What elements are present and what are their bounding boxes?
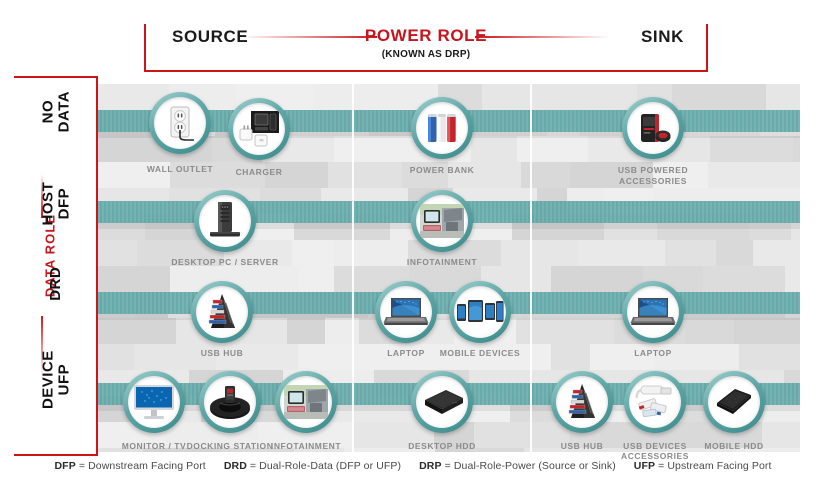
header-power-role-sublabel: (KNOWN AS DRP)	[144, 49, 708, 60]
column-divider-power-sink	[530, 84, 532, 452]
grid-tile	[716, 240, 753, 266]
grid-tile	[98, 318, 176, 344]
row-label-0: NODATA	[40, 70, 71, 154]
node-wall-outlet[interactable]	[149, 92, 211, 154]
node-infotainment-host[interactable]	[411, 190, 473, 252]
power-bank-icon	[416, 102, 468, 154]
row-label-1: HOSTDFP	[40, 162, 71, 246]
node-caption: MOBILE HDD	[674, 441, 794, 452]
legend-item: DRP = Dual-Role-Power (Source or Sink)	[419, 460, 616, 472]
legend-item: UFP = Upstream Facing Port	[634, 460, 772, 472]
grid-tile	[703, 266, 785, 292]
node-infotainment-dev[interactable]	[275, 371, 337, 433]
grid-tile	[665, 240, 716, 266]
node-caption: USB POWERED ACCESSORIES	[593, 165, 713, 186]
grid-tile	[521, 162, 570, 188]
desktop-tower-icon	[199, 195, 251, 247]
row-label-line2: DFP	[56, 162, 72, 246]
node-caption: MOBILE DEVICES	[420, 348, 540, 359]
node-desktop-hdd[interactable]	[411, 371, 473, 433]
grid-tile	[501, 240, 578, 266]
node-docking-station[interactable]	[199, 371, 261, 433]
grid-tile	[517, 136, 588, 162]
desktop-hdd-icon	[416, 376, 468, 428]
grid-tile	[672, 84, 766, 110]
infotainment-icon	[416, 195, 468, 247]
node-desktop-pc[interactable]	[194, 190, 256, 252]
usb-hub-icon	[196, 286, 248, 338]
power-role-header: SOURCE POWER ROLE SINK (KNOWN AS DRP)	[144, 24, 708, 72]
node-caption: INFOTAINMENT	[382, 257, 502, 268]
row-label-line1: DEVICE	[40, 338, 56, 422]
node-laptop-sink[interactable]	[622, 281, 684, 343]
header-rule-left	[242, 36, 377, 38]
usb-devices-accessories-icon	[629, 376, 681, 428]
node-caption: LAPTOP	[593, 348, 713, 359]
charger-icon	[233, 103, 285, 155]
node-usb-hub-drd[interactable]	[191, 281, 253, 343]
grid-tile	[313, 84, 403, 110]
header-power-role-label: POWER ROLE	[144, 26, 708, 46]
node-caption: CHARGER	[199, 167, 319, 178]
column-divider-source-power	[352, 84, 354, 452]
row-label-line1: HOST	[40, 162, 56, 246]
row-label-line1: NO	[40, 70, 56, 154]
grid-tile	[253, 318, 287, 344]
legend-text: = Dual-Role-Data (DFP or UFP)	[247, 460, 401, 472]
node-usb-powered-acc[interactable]	[622, 97, 684, 159]
legend-text: = Downstream Facing Port	[76, 460, 206, 472]
legend-text: = Dual-Role-Power (Source or Sink)	[442, 460, 616, 472]
node-mobile-hdd[interactable]	[703, 371, 765, 433]
node-caption: POWER BANK	[382, 165, 502, 176]
row-label-line1: DRD	[48, 242, 64, 326]
node-monitor-tv[interactable]	[123, 371, 185, 433]
legend: DFP = Downstream Facing PortDRD = Dual-R…	[0, 460, 826, 472]
node-caption: INFOTAINMENT	[246, 441, 366, 452]
grid-tile	[334, 136, 414, 162]
node-power-bank[interactable]	[411, 97, 473, 159]
mobile-devices-icon	[454, 286, 506, 338]
row-label-3: DEVICEUFP	[40, 338, 71, 422]
header-sink-label: SINK	[641, 27, 684, 47]
infotainment-icon	[280, 376, 332, 428]
monitor-icon	[128, 376, 180, 428]
node-caption: DESKTOP HDD	[382, 441, 502, 452]
wall-outlet-icon	[154, 97, 206, 149]
node-charger[interactable]	[228, 98, 290, 160]
grid-tile	[551, 344, 590, 370]
laptop-icon	[380, 286, 432, 338]
grid-tile	[766, 84, 800, 110]
docking-station-icon	[204, 376, 256, 428]
node-usb-hub-ufp[interactable]	[551, 371, 613, 433]
row-label-2: DRD	[48, 242, 64, 326]
laptop-icon	[627, 286, 679, 338]
mobile-hdd-icon	[708, 376, 760, 428]
node-caption: USB HUB	[162, 348, 282, 359]
grid-tile	[753, 240, 800, 266]
row-label-line2: UFP	[56, 338, 72, 422]
legend-item: DRD = Dual-Role-Data (DFP or UFP)	[224, 460, 401, 472]
grid-tile	[685, 318, 734, 344]
grid-tile	[710, 136, 793, 162]
grid-tile	[292, 240, 334, 266]
grid-tile	[793, 136, 800, 162]
grid-tile	[98, 344, 134, 370]
grid-tile	[98, 136, 142, 162]
infographic-root: WALL OUTLETCHARGERPOWER BANKUSB POWERED …	[0, 0, 826, 487]
grid-tile	[755, 162, 800, 188]
header-rule-right	[475, 36, 610, 38]
legend-key: DRP	[419, 460, 441, 472]
legend-key: DFP	[55, 460, 76, 472]
row-label-line2: DATA	[56, 70, 72, 154]
legend-item: DFP = Downstream Facing Port	[55, 460, 206, 472]
node-laptop-drd[interactable]	[375, 281, 437, 343]
legend-key: DRD	[224, 460, 247, 472]
grid-tile	[98, 266, 170, 292]
usb-hub-icon	[556, 376, 608, 428]
grid-tile	[708, 162, 755, 188]
grid-tile	[734, 318, 800, 344]
legend-key: UFP	[634, 460, 655, 472]
node-usb-devices-acc[interactable]	[624, 371, 686, 433]
grid-tile	[98, 240, 137, 266]
node-mobile-devices[interactable]	[449, 281, 511, 343]
grid-tile	[785, 266, 800, 292]
node-caption: DESKTOP PC / SERVER	[165, 257, 285, 268]
grid-tile	[299, 266, 334, 292]
grid-tile	[739, 344, 800, 370]
legend-text: = Upstream Facing Port	[655, 460, 771, 472]
grid-tile	[471, 136, 517, 162]
grid-tile	[578, 240, 665, 266]
usb-powered-accessory-icon	[627, 102, 679, 154]
grid-tile	[287, 318, 325, 344]
